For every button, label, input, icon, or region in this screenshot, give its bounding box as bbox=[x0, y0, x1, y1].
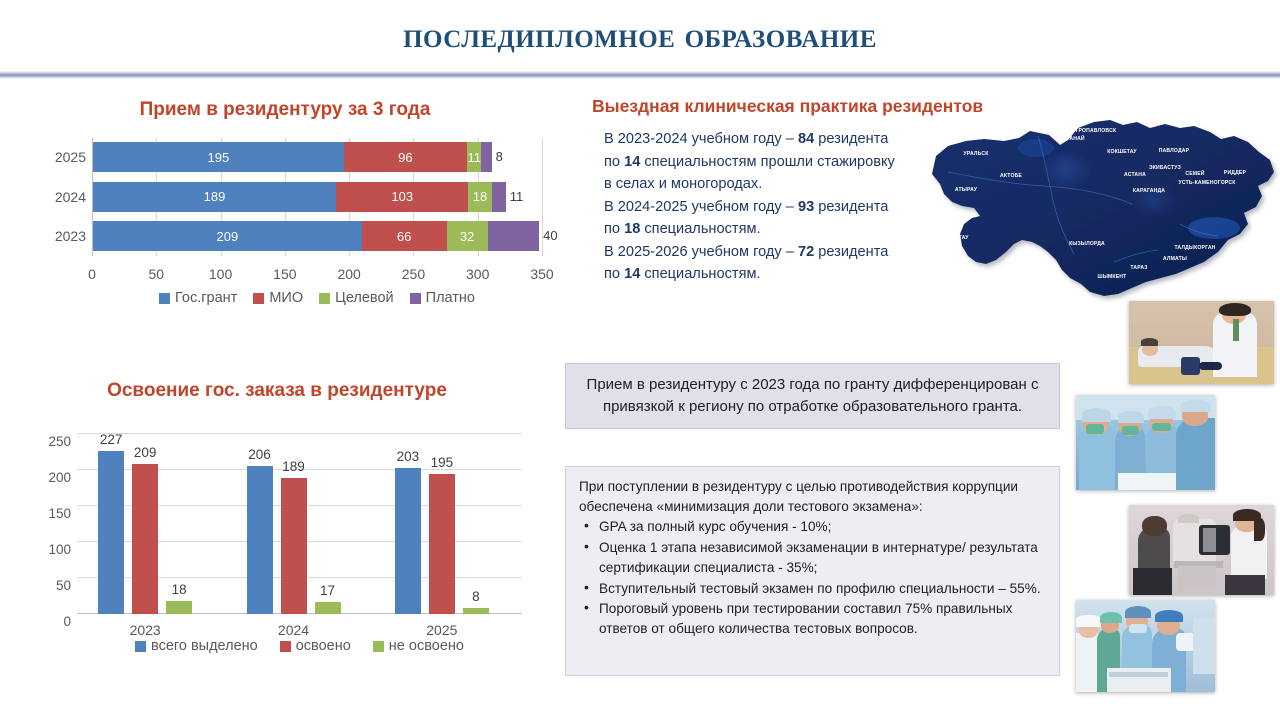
bar-segment-Целевой[interactable]: 11 bbox=[467, 142, 481, 172]
bar-value-label: 189 bbox=[204, 190, 226, 203]
bar-не освоено-2024[interactable] bbox=[315, 602, 341, 614]
legend-label: Платно bbox=[426, 290, 475, 306]
legend-label: Целевой bbox=[335, 290, 394, 306]
x-tick-300: 300 bbox=[466, 266, 489, 282]
bar-value-label: 66 bbox=[397, 230, 411, 243]
bar-segment-Гос.грант[interactable]: 195 bbox=[93, 142, 344, 172]
practice-line-3: в селах и моногородах. bbox=[604, 173, 934, 196]
x-tick-350: 350 bbox=[530, 266, 553, 282]
chart2-plot-area: 0501001502002502272091820232061891720242… bbox=[77, 434, 522, 614]
chart1-category-2023: 2023 bbox=[32, 221, 86, 251]
map-city-label-АТЫРАУ: АТЫРАУ bbox=[955, 187, 978, 193]
x-tick-100: 100 bbox=[209, 266, 232, 282]
map-city-label-ТАРАЗ: ТАРАЗ bbox=[1130, 265, 1147, 271]
bar-всего выделено-2025[interactable] bbox=[395, 468, 421, 614]
legend-swatch bbox=[253, 293, 264, 304]
legend-item-3[interactable]: не освоено bbox=[373, 638, 464, 654]
bar-value-label: 18 bbox=[473, 190, 487, 203]
practice-line-5: по 18 специальностям. bbox=[604, 218, 934, 241]
chart1-bar-row-2024: 18910318 bbox=[93, 182, 506, 212]
map-city-label-УРАЛЬСК: УРАЛЬСК bbox=[963, 151, 989, 157]
map-city-label-АКТАУ: АКТАУ bbox=[951, 235, 969, 241]
map-city-label-РИДДЕР: РИДДЕР bbox=[1224, 170, 1247, 176]
bar-всего выделено-2023[interactable] bbox=[98, 451, 124, 614]
map-landmass bbox=[932, 120, 1274, 296]
kazakhstan-map: ПЕТРОПАВЛОВСККОСТАНАЙКОКШЕТАУПАВЛОДАРУРА… bbox=[918, 112, 1280, 304]
bar-value-label-outside: 8 bbox=[496, 142, 503, 172]
bar-value-label-outside: 40 bbox=[543, 221, 557, 251]
bar-segment-МИО[interactable]: 96 bbox=[344, 142, 467, 172]
practice-line-1: В 2023-2024 учебном году – 84 резидента bbox=[604, 128, 934, 151]
x-tick-200: 200 bbox=[337, 266, 360, 282]
legend-item-1[interactable]: Гос.грант bbox=[159, 290, 237, 306]
photo-eye-diagnostics bbox=[1129, 505, 1274, 595]
bar-не освоено-2025[interactable] bbox=[463, 608, 489, 614]
header-divider bbox=[0, 71, 1280, 79]
bar-segment-Платно[interactable] bbox=[488, 221, 539, 251]
legend-swatch bbox=[280, 641, 291, 652]
legend-item-1[interactable]: всего выделено bbox=[135, 638, 258, 654]
x-tick-50: 50 bbox=[148, 266, 164, 282]
bar-value-освоено-2025: 195 bbox=[431, 455, 454, 470]
bar-value-всего выделено-2023: 227 bbox=[100, 432, 123, 447]
bar-segment-Целевой[interactable]: 32 bbox=[447, 221, 488, 251]
legend-item-3[interactable]: Целевой bbox=[319, 290, 394, 306]
chart2-category-2025: 2025 bbox=[426, 622, 457, 638]
map-city-label-КЫЗЫЛОРДА: КЫЗЫЛОРДА bbox=[1069, 241, 1105, 247]
bar-value-label: 195 bbox=[208, 151, 230, 164]
bullet-item-3: Вступительный тестовый экзамен по профил… bbox=[579, 579, 1046, 599]
legend-label: всего выделено bbox=[151, 638, 258, 654]
bar-всего выделено-2024[interactable] bbox=[247, 466, 273, 614]
bullet-item-1: GPA за полный курс обучения - 10%; bbox=[579, 517, 1046, 537]
map-city-label-АКТОБЕ: АКТОБЕ bbox=[1000, 173, 1022, 179]
bar-segment-Платно[interactable] bbox=[492, 182, 506, 212]
bar-value-не освоено-2023: 18 bbox=[172, 582, 187, 597]
bar-segment-Гос.грант[interactable]: 209 bbox=[93, 221, 362, 251]
bar-value-label: 32 bbox=[460, 230, 474, 243]
bar-value-освоено-2023: 209 bbox=[134, 445, 157, 460]
map-city-label-КОСТАНАЙ: КОСТАНАЙ bbox=[1055, 134, 1085, 142]
practice-highlight-number: 84 bbox=[798, 131, 814, 147]
map-city-label-СЕМЕЙ: СЕМЕЙ bbox=[1185, 169, 1204, 177]
map-city-label-ПЕТРОПАВЛОВСК: ПЕТРОПАВЛОВСК bbox=[1068, 128, 1117, 134]
legend-swatch bbox=[159, 293, 170, 304]
legend-swatch bbox=[410, 293, 421, 304]
x-tick-150: 150 bbox=[273, 266, 296, 282]
practice-description: В 2023-2024 учебном году – 84 резидентап… bbox=[604, 128, 934, 286]
photo-surgery-team bbox=[1076, 395, 1215, 490]
legend-item-4[interactable]: Платно bbox=[410, 290, 475, 306]
legend-label: Гос.грант bbox=[175, 290, 237, 306]
bar-освоено-2024[interactable] bbox=[281, 478, 307, 614]
legend-swatch bbox=[135, 641, 146, 652]
bar-value-label: 209 bbox=[217, 230, 239, 243]
bar-value-освоено-2024: 189 bbox=[282, 459, 305, 474]
practice-line-4: В 2024-2025 учебном году – 93 резидента bbox=[604, 196, 934, 219]
practice-highlight-number: 18 bbox=[624, 221, 640, 237]
photo-blood-pressure-exam bbox=[1129, 301, 1274, 384]
chart1-category-2025: 2025 bbox=[32, 142, 86, 172]
chart1-bar-row-2025: 1959611 bbox=[93, 142, 492, 172]
bullet-item-4: Пороговый уровень при тестировании соста… bbox=[579, 599, 1046, 639]
legend-item-2[interactable]: освоено bbox=[280, 638, 351, 654]
map-city-label-АЛМАТЫ: АЛМАТЫ bbox=[1163, 256, 1187, 262]
chart1-category-2024: 2024 bbox=[32, 182, 86, 212]
slide-root: Последипломное образование Прием в резид… bbox=[0, 0, 1280, 720]
anticorruption-info-box: При поступлении в резидентуру с целью пр… bbox=[565, 466, 1060, 676]
chart2-title: Освоение гос. заказа в резидентуре bbox=[22, 380, 532, 402]
map-city-label-КАРАГАНДА: КАРАГАНДА bbox=[1133, 188, 1165, 194]
practice-highlight-number: 14 bbox=[624, 154, 640, 170]
practice-highlight-number: 93 bbox=[798, 199, 814, 215]
practice-line-7: по 14 cпециальностям. bbox=[604, 263, 934, 286]
chart1-title: Прием в резидентуру за 3 года bbox=[30, 99, 540, 121]
chart2-category-2024: 2024 bbox=[278, 622, 309, 638]
map-city-label-ПАВЛОДАР: ПАВЛОДАР bbox=[1159, 148, 1190, 154]
x-tick-0: 0 bbox=[88, 266, 96, 282]
bar-segment-МИО[interactable]: 66 bbox=[362, 221, 447, 251]
bar-value-всего выделено-2024: 206 bbox=[248, 447, 271, 462]
bar-не освоено-2023[interactable] bbox=[166, 601, 192, 614]
practice-line-2: по 14 специальностям прошли стажировку bbox=[604, 151, 934, 174]
callout-text: Прием в резидентуру с 2023 года по грант… bbox=[578, 374, 1047, 418]
practice-highlight-number: 72 bbox=[798, 244, 814, 260]
page-title: Последипломное образование bbox=[0, 14, 1280, 58]
callout-box: Прием в резидентуру с 2023 года по грант… bbox=[565, 363, 1060, 429]
chart2-category-2023: 2023 bbox=[130, 622, 161, 638]
legend-label: освоено bbox=[296, 638, 351, 654]
bullet-item-2: Оценка 1 этапа независимой экзаменации в… bbox=[579, 538, 1046, 578]
state-order-grouped-bar-chart: 0501001502002502272091820232061891720242… bbox=[22, 424, 532, 654]
chart1-legend: Гос.грантМИОЦелевойПлатно bbox=[92, 290, 542, 306]
bar-segment-МИО[interactable]: 103 bbox=[336, 182, 468, 212]
bar-value-не освоено-2024: 17 bbox=[320, 583, 335, 598]
legend-item-2[interactable]: МИО bbox=[253, 290, 303, 306]
map-city-label-УСТЬ-КАМЕНОГОРСК: УСТЬ-КАМЕНОГОРСК bbox=[1179, 180, 1237, 186]
legend-label: не освоено bbox=[389, 638, 464, 654]
map-city-label-ТАЛДЫКОРГАН: ТАЛДЫКОРГАН bbox=[1174, 245, 1215, 251]
bar-освоено-2023[interactable] bbox=[132, 464, 158, 614]
map-city-label-ЭКИБАСТУЗ: ЭКИБАСТУЗ bbox=[1149, 165, 1181, 171]
bar-value-label: 11 bbox=[467, 151, 481, 164]
chart1-bar-row-2023: 2096632 bbox=[93, 221, 539, 251]
gridline-y-250 bbox=[77, 433, 522, 434]
chart2-legend: всего выделеноосвоеноне освоено bbox=[77, 638, 522, 654]
bar-освоено-2025[interactable] bbox=[429, 474, 455, 614]
bullet-intro-text: При поступлении в резидентуру с целью пр… bbox=[579, 477, 1046, 516]
photo-operating-room bbox=[1076, 600, 1215, 692]
bar-value-label-outside: 11 bbox=[510, 182, 524, 212]
bar-segment-Гос.грант[interactable]: 189 bbox=[93, 182, 336, 212]
bullet-list: GPA за полный курс обучения - 10%;Оценка… bbox=[579, 517, 1046, 639]
map-city-label-АСТАНА: АСТАНА bbox=[1124, 172, 1146, 178]
practice-line-6: В 2025-2026 учебном году – 72 резидента bbox=[604, 241, 934, 264]
bar-value-всего выделено-2025: 203 bbox=[397, 449, 420, 464]
x-tick-250: 250 bbox=[402, 266, 425, 282]
bar-segment-Платно[interactable] bbox=[481, 142, 491, 172]
bar-value-не освоено-2025: 8 bbox=[472, 589, 480, 604]
map-city-label-КОКШЕТАУ: КОКШЕТАУ bbox=[1107, 149, 1137, 155]
chart1-plot-area: 0501001502002503003502025195961182024189… bbox=[92, 138, 542, 256]
legend-swatch bbox=[319, 293, 330, 304]
legend-swatch bbox=[373, 641, 384, 652]
practice-highlight-number: 14 bbox=[624, 266, 640, 282]
admission-stacked-bar-chart: 0501001502002503003502025195961182024189… bbox=[30, 132, 550, 337]
bar-value-label: 103 bbox=[391, 190, 413, 203]
bar-value-label: 96 bbox=[398, 151, 412, 164]
bar-segment-Целевой[interactable]: 18 bbox=[468, 182, 491, 212]
legend-label: МИО bbox=[269, 290, 303, 306]
map-city-label-ШЫМКЕНТ: ШЫМКЕНТ bbox=[1098, 274, 1128, 280]
